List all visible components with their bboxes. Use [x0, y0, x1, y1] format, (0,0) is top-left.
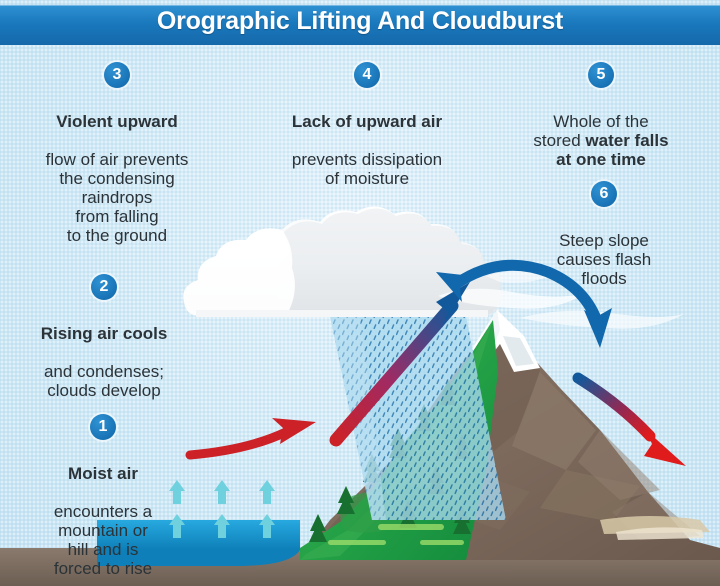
step-1-lead: Moist air [68, 464, 138, 483]
step-3-text: Violent upward flow of air prevents the … [10, 93, 224, 245]
step-5: 5 Whole of the stored water falls at one… [498, 62, 704, 169]
step-1-badge: 1 [90, 414, 116, 440]
step-3-badge: 3 [104, 62, 130, 88]
step-3-lead: Violent upward [56, 112, 178, 131]
step-4-text: Lack of upward air prevents dissipation … [252, 93, 482, 188]
step-1-body: encounters a mountain or hill and is for… [54, 502, 152, 578]
step-2-body: and condenses; clouds develop [44, 362, 164, 400]
step-3-body: flow of air prevents the condensing rain… [46, 150, 189, 245]
step-1-text: Moist air encounters a mountain or hill … [8, 445, 198, 578]
infographic-canvas: Orographic Lifting And Cloudburst 1 Mois… [0, 0, 720, 586]
step-5-text: Whole of the stored water falls at one t… [498, 93, 704, 169]
step-4-body: prevents dissipation of moisture [292, 150, 442, 188]
moist-air-red-arrow [190, 418, 316, 455]
step-4-lead: Lack of upward air [292, 112, 442, 131]
step-3: 3 Violent upward flow of air prevents th… [10, 62, 224, 245]
page-title: Orographic Lifting And Cloudburst [0, 7, 720, 36]
step-2: 2 Rising air cools and condenses; clouds… [4, 274, 204, 400]
step-4-badge: 4 [354, 62, 380, 88]
step-2-text: Rising air cools and condenses; clouds d… [4, 305, 204, 400]
step-6-badge: 6 [591, 181, 617, 207]
step-6: 6 Steep slope causes flash floods [516, 181, 692, 288]
step-2-badge: 2 [91, 274, 117, 300]
step-6-text: Steep slope causes flash floods [516, 212, 692, 288]
step-1: 1 Moist air encounters a mountain or hil… [8, 414, 198, 578]
step-5-badge: 5 [588, 62, 614, 88]
step-4: 4 Lack of upward air prevents dissipatio… [252, 62, 482, 188]
step-2-lead: Rising air cools [41, 324, 168, 343]
step-6-body: Steep slope causes flash floods [557, 231, 652, 288]
